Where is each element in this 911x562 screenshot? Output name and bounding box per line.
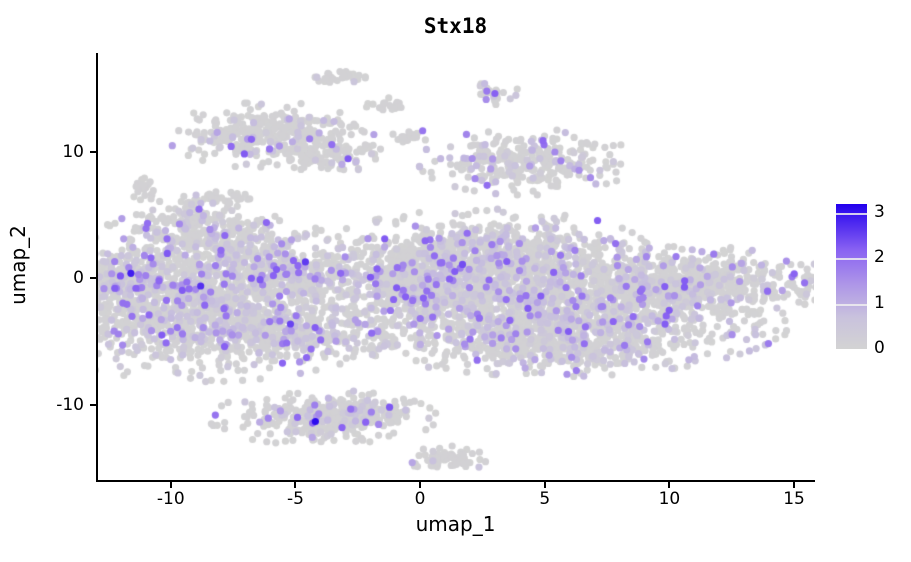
colorbar-tick-mark: [836, 304, 867, 306]
y-tick-mark: [90, 151, 96, 153]
x-tick-mark: [419, 482, 421, 488]
x-tick-mark: [294, 482, 296, 488]
x-axis-spine: [96, 480, 815, 482]
x-axis-label: umap_1: [96, 512, 815, 536]
x-tick-mark: [793, 482, 795, 488]
colorbar-tick-label: 3: [874, 204, 904, 221]
colorbar: [836, 204, 867, 349]
y-tick-label: -10: [22, 395, 84, 415]
x-tick-label: 15: [764, 489, 824, 509]
scatter-points-canvas: [96, 53, 814, 481]
y-tick-mark: [90, 277, 96, 279]
colorbar-tick-mark: [836, 213, 867, 215]
x-tick-label: 10: [639, 489, 699, 509]
x-tick-label: -5: [265, 489, 325, 509]
colorbar-tick-label: 0: [874, 340, 904, 357]
x-tick-label: 0: [390, 489, 450, 509]
page-title: Stx18: [0, 14, 911, 38]
y-tick-mark: [90, 404, 96, 406]
x-tick-mark: [170, 482, 172, 488]
colorbar-tick-label: 2: [874, 249, 904, 266]
feature-plot-figure: Stx18 -10-5051015 100-10 umap_1 umap_2 0…: [0, 0, 911, 562]
colorbar-gradient: [836, 204, 867, 349]
y-tick-label: 10: [22, 142, 84, 162]
x-tick-mark: [544, 482, 546, 488]
colorbar-tick-mark: [836, 258, 867, 260]
y-axis-spine: [96, 53, 98, 482]
colorbar-tick-label: 1: [874, 295, 904, 312]
x-tick-mark: [668, 482, 670, 488]
x-tick-label: -10: [141, 489, 201, 509]
y-tick-label: 0: [22, 268, 84, 288]
y-axis-label: umap_2: [6, 165, 30, 365]
x-tick-label: 5: [515, 489, 575, 509]
